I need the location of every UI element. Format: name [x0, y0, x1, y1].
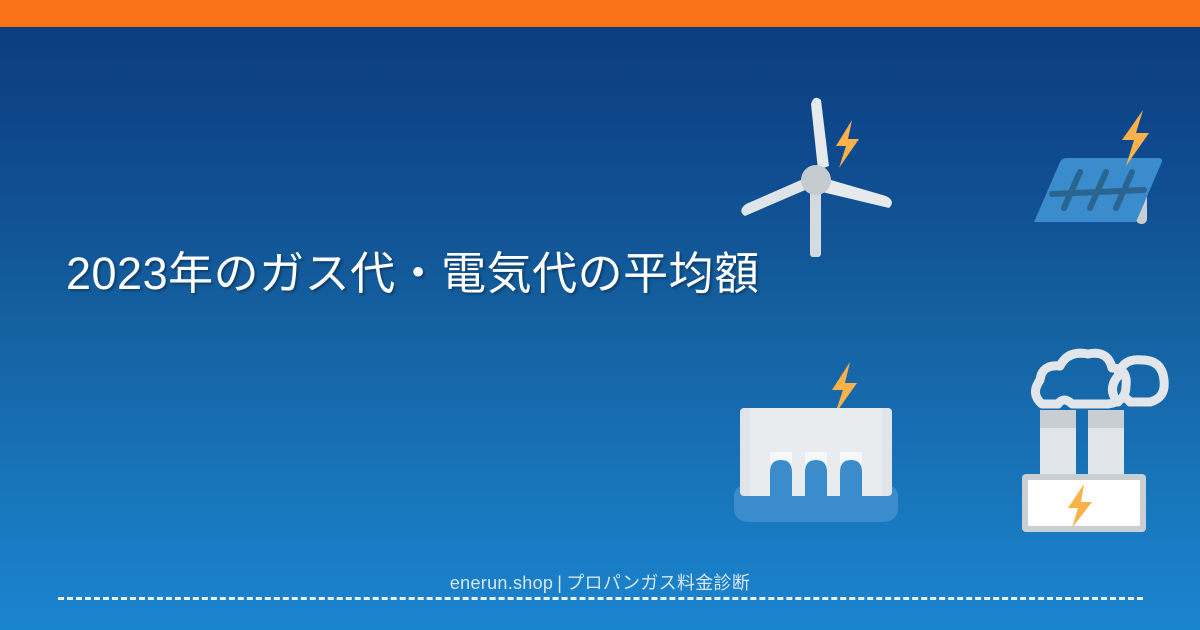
- footer-site-name: enerun.shop: [450, 573, 553, 593]
- power-plant-icon: [1012, 332, 1182, 538]
- hydro-dam-icon: [726, 356, 906, 536]
- footer-divider: [58, 597, 1143, 600]
- solar-panel-icon: [1012, 104, 1182, 254]
- wind-turbine-icon: [726, 84, 906, 264]
- og-image-card: 2023年のガス代・電気代の平均額: [0, 0, 1200, 630]
- footer-text: enerun.shop|プロパンガス料金診断: [450, 572, 750, 594]
- footer-separator: |: [553, 573, 566, 593]
- page-title-text: 2023年のガス代・電気代の平均額: [66, 246, 766, 301]
- page-title: 2023年のガス代・電気代の平均額: [66, 246, 766, 301]
- top-accent-bar: [0, 0, 1200, 27]
- footer: enerun.shop|プロパンガス料金診断: [0, 572, 1200, 594]
- footer-tagline: プロパンガス料金診断: [566, 573, 750, 593]
